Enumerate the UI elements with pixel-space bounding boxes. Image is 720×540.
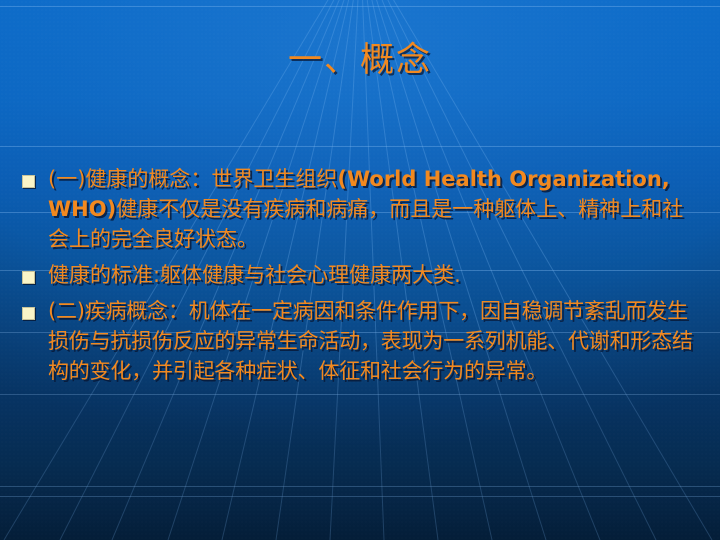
bullet-text-3: (二)疾病概念：机体在一定病因和条件作用下，因自稳调节紊乱而发生损伤与抗损伤反应… (48, 296, 704, 386)
bullet-item-3: (二)疾病概念：机体在一定病因和条件作用下，因自稳调节紊乱而发生损伤与抗损伤反应… (0, 296, 720, 386)
bullet-text-1: (一)健康的概念：世界卫生组织(World Health Organizatio… (48, 164, 704, 254)
slide-content: 一、概念 (一)健康的概念：世界卫生组织(World Health Organi… (0, 0, 720, 540)
bullet-item-2: 健康的标准:躯体健康与社会心理健康两大类. (0, 260, 720, 290)
bullet-1-segment-cjk-2: 健康不仅是没有疾病和病痛，而且是一种躯体上、精神上和社会上的完全良好状态。 (48, 197, 683, 251)
square-bullet-icon (22, 307, 35, 320)
slide-title: 一、概念 (0, 32, 720, 81)
square-bullet-icon (22, 175, 35, 188)
presentation-slide: 一、概念 (一)健康的概念：世界卫生组织(World Health Organi… (0, 0, 720, 540)
bullet-text-2: 健康的标准:躯体健康与社会心理健康两大类. (48, 260, 704, 290)
bullet-1-segment-cjk-1: (一)健康的概念：世界卫生组织 (48, 167, 337, 191)
slide-body: (一)健康的概念：世界卫生组织(World Health Organizatio… (0, 164, 720, 392)
square-bullet-icon (22, 271, 35, 284)
bullet-item-1: (一)健康的概念：世界卫生组织(World Health Organizatio… (0, 164, 720, 254)
